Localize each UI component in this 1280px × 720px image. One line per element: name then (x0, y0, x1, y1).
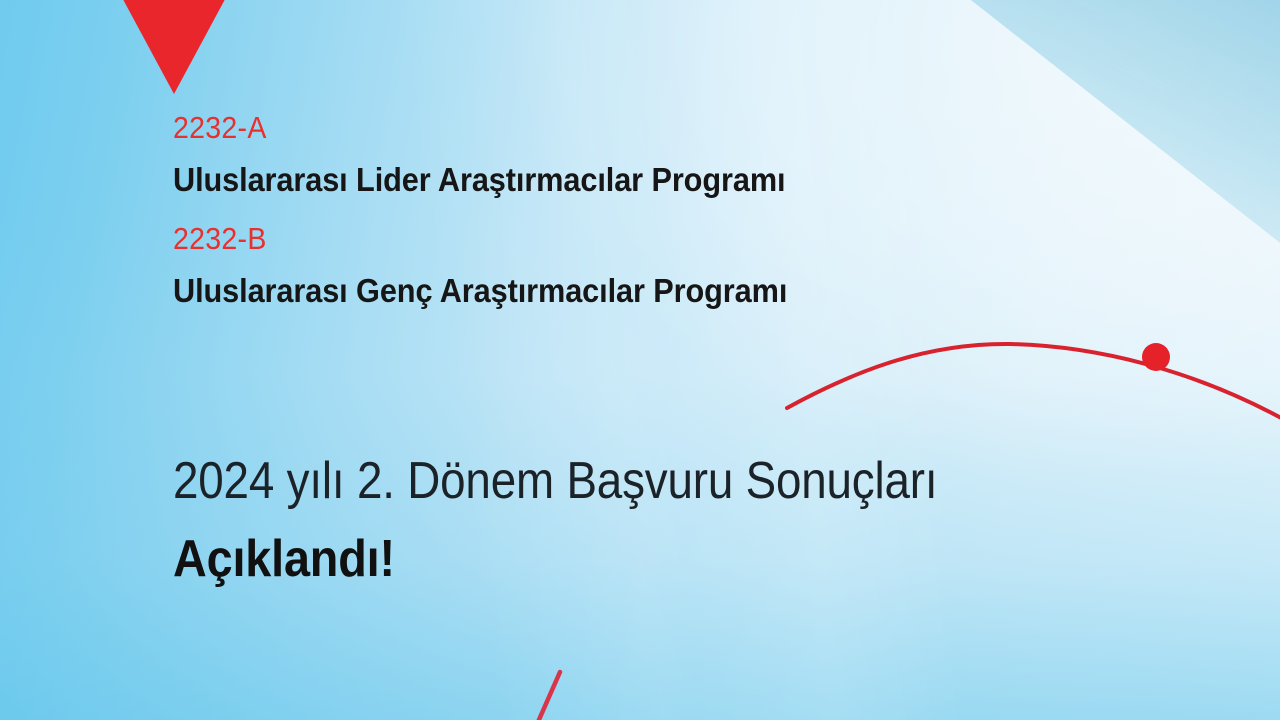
headline-line-2: Açıklandı! (173, 533, 955, 585)
red-arc-curve-icon (787, 344, 1280, 424)
red-accent-stroke-icon (538, 672, 560, 720)
program-code-2232b: 2232-B (173, 223, 781, 254)
program-name-2232a: Uluslararası Lider Araştırmacılar Progra… (173, 163, 785, 196)
decorative-shapes (0, 0, 1280, 720)
program-code-2232a: 2232-A (173, 112, 779, 143)
red-dot-node-icon (1142, 343, 1170, 371)
poster-canvas: 2232-A Uluslararası Lider Araştırmacılar… (0, 0, 1280, 720)
headline-line-1: 2024 yılı 2. Dönem Başvuru Sonuçları (173, 455, 937, 507)
program-name-2232b: Uluslararası Genç Araştırmacılar Program… (173, 274, 787, 307)
headline-block: 2024 yılı 2. Dönem Başvuru Sonuçları Açı… (173, 455, 1042, 585)
program-block-2232a: 2232-A Uluslararası Lider Araştırmacılar… (173, 112, 832, 196)
program-block-2232b: 2232-B Uluslararası Genç Araştırmacılar … (173, 223, 834, 307)
